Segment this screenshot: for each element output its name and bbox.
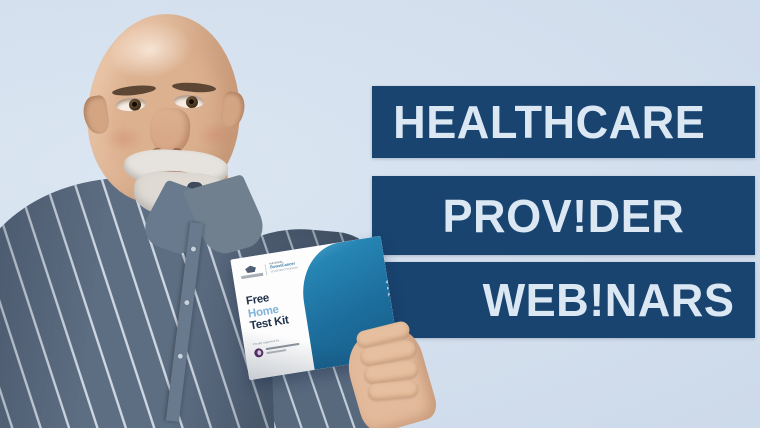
image-canvas: WEB!NARS HEALTHCARE PROV!DER NATIONAL Bo… (0, 0, 760, 428)
headline-banner-1: HEALTHCARE (372, 86, 755, 158)
brochure-footer-org-text (266, 343, 301, 355)
program-mark-icon (254, 348, 264, 358)
australian-government-crest-icon (240, 264, 263, 279)
brochure-logo-row: NATIONAL BowelCancer SCREENING PROGRAM (240, 255, 313, 280)
shirt-button (178, 353, 184, 359)
headline-line-3: WEB!NARS (483, 273, 735, 327)
brochure-footer: Proudly supported by (253, 333, 317, 358)
cheek-left (104, 126, 144, 152)
pupil-left (132, 101, 137, 106)
crest-shape (245, 265, 257, 274)
brochure-title: Free Home Test Kit (245, 290, 289, 333)
logo-divider (264, 264, 267, 275)
crest-wordmark (241, 273, 263, 279)
shirt-button (184, 300, 190, 306)
headline-banner-2: PROV!DER (372, 176, 755, 255)
cheek-right (196, 122, 236, 148)
headline-line-1: HEALTHCARE (393, 95, 705, 149)
shirt-button (191, 246, 197, 252)
headline-line-2: PROV!DER (443, 189, 685, 243)
pupil-right (189, 99, 194, 104)
